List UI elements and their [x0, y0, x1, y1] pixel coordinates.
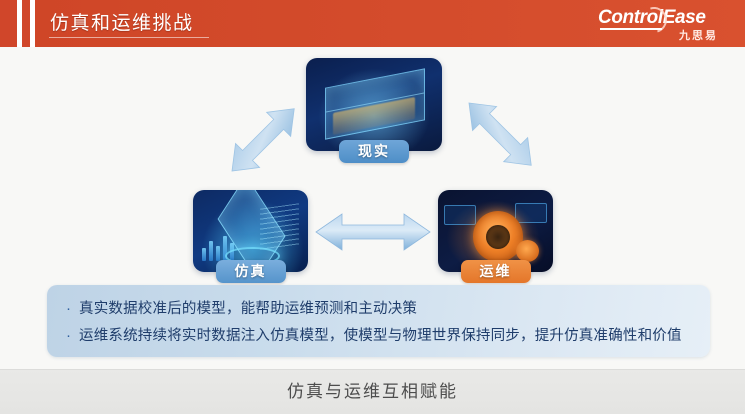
diagram-card-operations[interactable]: 运维: [438, 190, 553, 272]
slide-footer: 仿真与运维互相赋能: [0, 369, 745, 414]
bullet-text: 真实数据校准后的模型，能帮助运维预测和主动决策: [79, 301, 417, 317]
bullet-item: ·真实数据校准后的模型，能帮助运维预测和主动决策: [66, 296, 698, 322]
diagram-card-simulation[interactable]: 仿真: [193, 190, 308, 272]
bullet-marker: ·: [66, 296, 79, 322]
slide-root: 仿真和运维挑战 ControlEase 九思易: [0, 0, 745, 414]
header-accent-bar-1: [0, 0, 17, 47]
logo-rule: [600, 28, 662, 30]
summary-callout: ·真实数据校准后的模型，能帮助运维预测和主动决策 ·运维系统持续将实时数据注入仿…: [47, 285, 710, 357]
arrow-simulation-operations: [316, 214, 430, 250]
card-label-reality: 现实: [339, 140, 409, 163]
arrow-reality-operations: [457, 91, 543, 177]
footer-caption: 仿真与运维互相赋能: [0, 370, 745, 414]
page-title: 仿真和运维挑战: [50, 0, 194, 47]
arrow-reality-simulation: [220, 97, 306, 183]
bullet-item: ·运维系统持续将实时数据注入仿真模型，使模型与物理世界保持同步，提升仿真准确性和…: [66, 323, 698, 349]
card-label-simulation: 仿真: [216, 260, 286, 283]
brand-logo: ControlEase 九思易: [598, 8, 718, 42]
slide-header: 仿真和运维挑战 ControlEase 九思易: [0, 0, 745, 47]
bullet-text: 运维系统持续将实时数据注入仿真模型，使模型与物理世界保持同步，提升仿真准确性和价…: [79, 328, 682, 344]
gear-small-icon: [516, 240, 539, 262]
triangle-diagram: 现实 仿真: [0, 47, 745, 282]
reality-artwork-icon: [306, 58, 442, 151]
header-accent-bar-2: [22, 0, 30, 47]
header-banner: 仿真和运维挑战 ControlEase 九思易: [35, 0, 745, 47]
reality-image: [306, 58, 442, 151]
title-underline: [49, 37, 209, 38]
card-label-operations: 运维: [461, 260, 531, 283]
diagram-card-reality[interactable]: 现实: [306, 58, 442, 151]
logo-chinese-name: 九思易: [679, 27, 718, 43]
gear-icon: [473, 211, 524, 262]
bullet-marker: ·: [66, 323, 79, 349]
